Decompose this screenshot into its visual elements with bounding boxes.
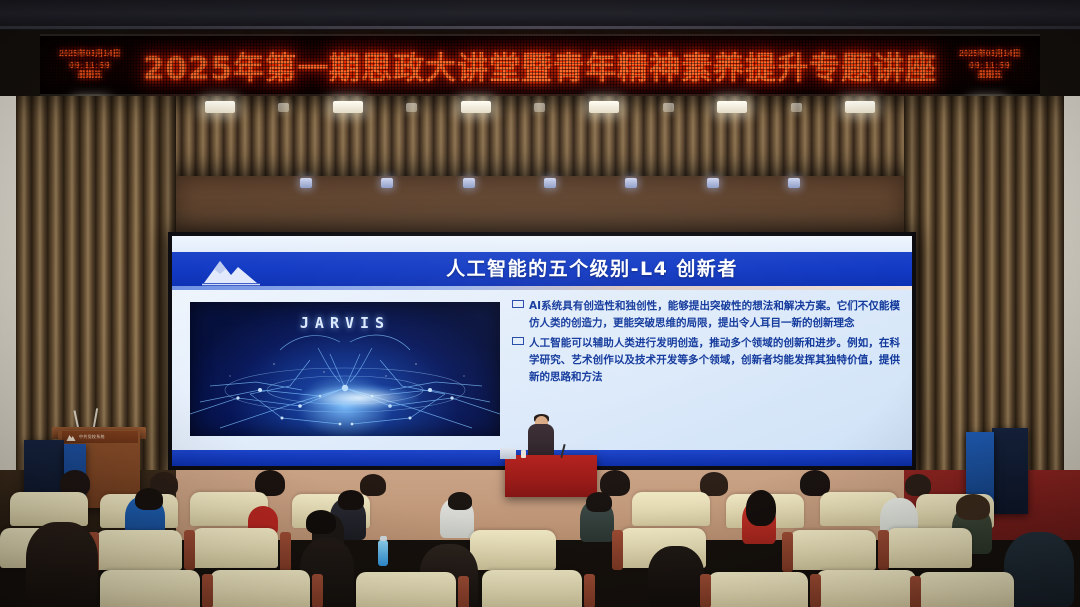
slide-bullet-item: 人工智能可以辅助人类进行发明创造，推动多个领域的创新和进步。例如，在科学研究、艺… <box>512 335 900 386</box>
led-left-weekday: 星期五 <box>46 70 134 80</box>
led-right-time: 09:11:59 <box>946 60 1034 71</box>
seat-armrest <box>202 574 213 607</box>
audience-person-hair <box>306 510 336 534</box>
spotlight <box>707 178 719 188</box>
stage-light <box>461 101 491 113</box>
seat <box>790 530 876 570</box>
side-wall-right <box>1064 96 1080 496</box>
spotlight <box>625 178 637 188</box>
stage-light <box>406 103 417 112</box>
presenter-cup <box>521 450 526 458</box>
audience-person-hair <box>956 494 990 520</box>
spotlight <box>463 178 475 188</box>
led-banner: 2025年03月14日 09:11:59 星期五 2025年第一期思政大讲堂暨青… <box>40 34 1040 96</box>
led-right-weekday: 星期五 <box>946 70 1034 80</box>
seat-armrest <box>878 530 889 570</box>
seat-armrest <box>612 530 623 570</box>
slide-top-strip <box>172 236 912 252</box>
podium-plate-text: 中共党校系统 <box>79 434 105 440</box>
led-left-date: 2025年03月14日 <box>46 49 134 59</box>
led-left-time: 09:11:59 <box>46 60 134 71</box>
stage-light <box>791 103 802 112</box>
seat-armrest <box>810 574 821 607</box>
ceiling-seam <box>0 26 1080 29</box>
seat-armrest <box>458 576 469 607</box>
ceiling-spotlight-row <box>300 178 800 190</box>
bullet-square-icon <box>512 300 524 308</box>
slide-title-underline <box>172 286 912 290</box>
led-clock-left: 2025年03月14日 09:11:59 星期五 <box>46 49 134 80</box>
seat-armrest <box>910 576 921 607</box>
seat <box>632 492 710 526</box>
image-center-glow <box>299 385 419 411</box>
seat <box>96 530 182 570</box>
seat-armrest <box>700 574 711 607</box>
side-wall-left <box>0 96 16 496</box>
seat <box>886 528 972 568</box>
seat <box>708 572 808 607</box>
stage-light <box>663 103 674 112</box>
audience-person-hair <box>135 488 163 510</box>
bullet-text: 人工智能可以辅助人类进行发明创造，推动多个领域的创新和进步。例如，在科学研究、艺… <box>529 335 900 386</box>
audience-person <box>648 546 704 607</box>
presenter-laptop <box>500 448 516 459</box>
led-banner-title: 2025年第一期思政大讲堂暨青年精神素养提升专题讲座 <box>134 43 946 88</box>
stage-light <box>333 101 363 113</box>
audience-person-hair <box>338 490 364 510</box>
seat <box>356 572 456 607</box>
spotlight <box>300 178 312 188</box>
spotlight <box>381 178 393 188</box>
audience-person-hair <box>586 492 612 512</box>
spotlight <box>544 178 556 188</box>
lecture-hall-photo: 2025年03月14日 09:11:59 星期五 2025年第一期思政大讲堂暨青… <box>0 0 1080 607</box>
audience-person <box>360 474 386 496</box>
audience-person-hair <box>448 492 472 510</box>
stage-light <box>589 101 619 113</box>
seat <box>470 530 556 570</box>
audience-person <box>1004 532 1074 607</box>
seat <box>918 572 1014 607</box>
bottle-cap <box>380 536 387 541</box>
seat <box>482 570 582 607</box>
bullet-text: AI系统具有创造性和独创性，能够提出突破性的想法和解决方案。它们不仅能模仿人类的… <box>529 298 900 332</box>
stage-light <box>278 103 289 112</box>
seat-armrest <box>584 574 595 607</box>
led-right-date: 2025年03月14日 <box>946 49 1034 59</box>
water-bottle <box>378 540 388 566</box>
slide-bullet-item: AI系统具有创造性和独创性，能够提出突破性的想法和解决方案。它们不仅能模仿人类的… <box>512 298 900 332</box>
stage-light <box>534 103 545 112</box>
seat-armrest <box>312 574 323 607</box>
seat <box>10 492 88 526</box>
seat-armrest <box>280 532 291 572</box>
stage-light <box>205 101 235 113</box>
audience-area <box>0 470 1080 607</box>
spotlight <box>788 178 800 188</box>
seat-armrest <box>184 530 195 570</box>
audience-person-hair <box>26 522 98 607</box>
slide-title: 人工智能的五个级别-L4 创新者 <box>172 254 912 281</box>
seat-armrest <box>782 532 793 572</box>
seat <box>192 528 278 568</box>
audience-person-hair <box>746 490 776 526</box>
audience-person <box>905 474 931 496</box>
jarvis-caption: JARVIS <box>190 314 500 332</box>
stage-light <box>717 101 747 113</box>
bullet-square-icon <box>512 337 524 345</box>
slide-image-jarvis: JARVIS <box>190 302 500 436</box>
seat <box>816 570 916 607</box>
seat <box>210 570 310 607</box>
podium-name-plate: 中共党校系统 <box>62 431 138 443</box>
led-clock-right: 2025年03月14日 09:11:59 星期五 <box>946 49 1034 80</box>
stage-light <box>845 101 875 113</box>
seat <box>100 570 200 607</box>
slide-bullet-list: AI系统具有创造性和独创性，能够提出突破性的想法和解决方案。它们不仅能模仿人类的… <box>512 298 900 389</box>
podium-mountain-logo-icon <box>66 433 76 442</box>
